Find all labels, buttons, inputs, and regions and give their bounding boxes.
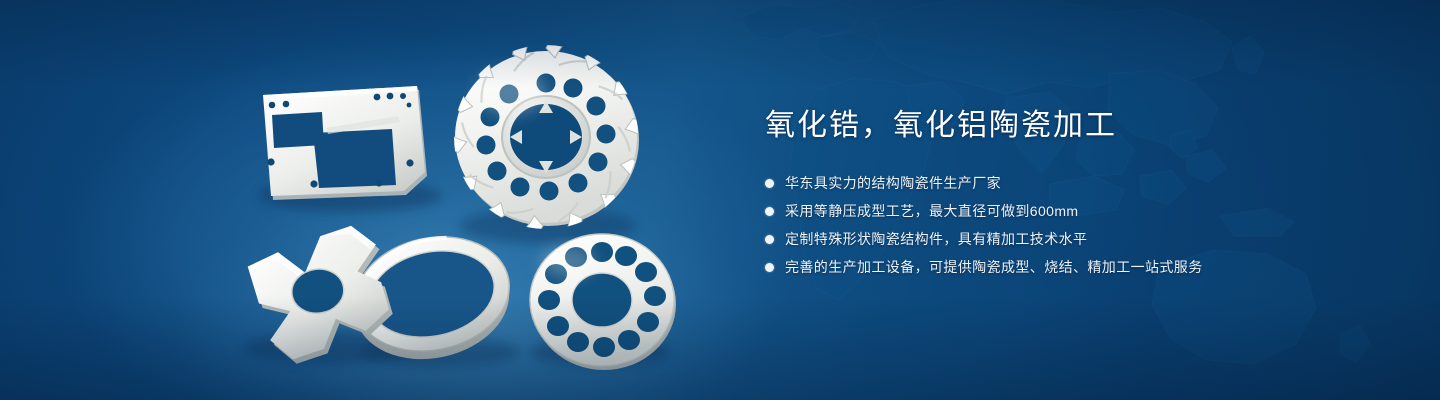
list-item-label: 定制特殊形状陶瓷结构件，具有精加工技术水平	[785, 229, 1087, 249]
bullet-dot-icon	[765, 235, 774, 244]
list-item: 完善的生产加工设备，可提供陶瓷成型、烧结、精加工一站式服务	[765, 256, 1385, 278]
bullet-dot-icon	[765, 179, 774, 188]
page-title: 氧化锆，氧化铝陶瓷加工	[765, 106, 1385, 146]
banner-text-block: 氧化锆，氧化铝陶瓷加工 华东具实力的结构陶瓷件生产厂家 采用等静压成型工艺，最大…	[765, 106, 1385, 284]
list-item-label: 采用等静压成型工艺，最大直径可做到600mm	[785, 201, 1078, 221]
list-item: 采用等静压成型工艺，最大直径可做到600mm	[765, 200, 1385, 222]
feature-list: 华东具实力的结构陶瓷件生产厂家 采用等静压成型工艺，最大直径可做到600mm 定…	[765, 172, 1385, 278]
bullet-dot-icon	[765, 263, 774, 272]
list-item-label: 华东具实力的结构陶瓷件生产厂家	[785, 173, 1001, 193]
list-item-label: 完善的生产加工设备，可提供陶瓷成型、烧结、精加工一站式服务	[785, 257, 1203, 277]
bullet-dot-icon	[765, 207, 774, 216]
list-item: 定制特殊形状陶瓷结构件，具有精加工技术水平	[765, 228, 1385, 250]
list-item: 华东具实力的结构陶瓷件生产厂家	[765, 172, 1385, 194]
promo-banner: 氧化锆，氧化铝陶瓷加工 华东具实力的结构陶瓷件生产厂家 采用等静压成型工艺，最大…	[0, 0, 1440, 400]
